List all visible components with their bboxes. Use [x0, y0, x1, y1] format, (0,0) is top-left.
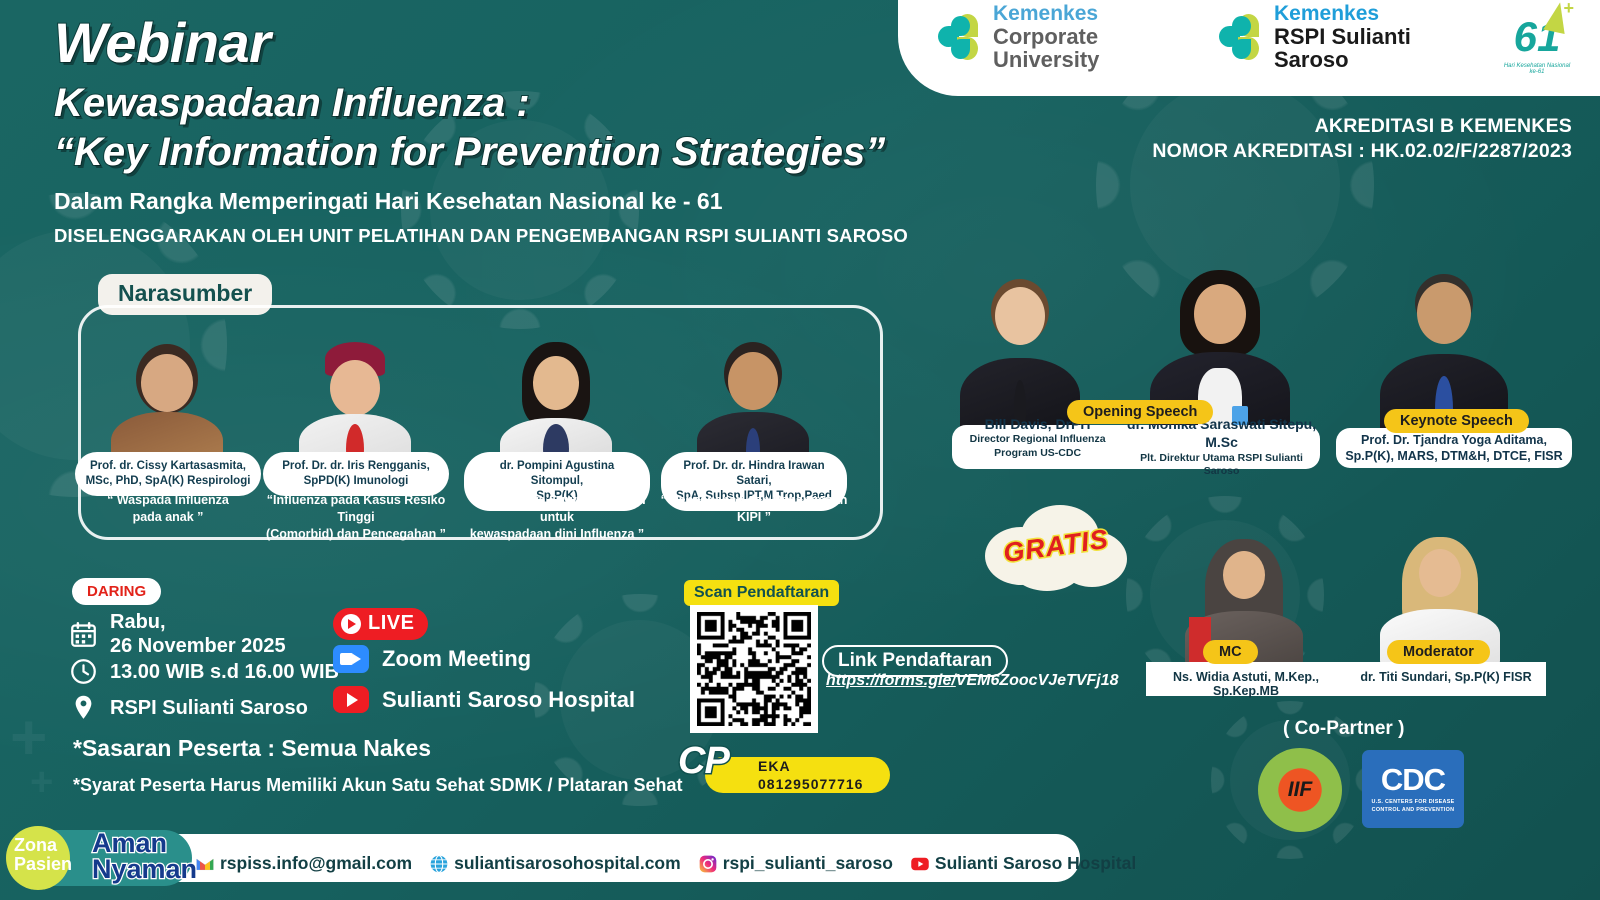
event-time-row: 13.00 WIB s.d 16.00 WIB	[70, 658, 339, 685]
event-date-row: Rabu, 26 November 2025	[70, 610, 286, 658]
event-place-row: RSPI Sulianti Saroso	[70, 694, 308, 721]
contact-instagram[interactable]: rspi_sulianti_saroso	[698, 853, 893, 874]
location-pin-icon	[70, 694, 97, 721]
title-block: Webinar Kewaspadaan Influenza : “Key Inf…	[54, 14, 1014, 247]
qr-canvas	[697, 612, 811, 726]
hkn-caption: Hari Kesehatan Nasional ke-61	[1500, 63, 1574, 75]
iif-text: IIF	[1258, 748, 1342, 832]
contact-person-label: CP	[678, 740, 729, 783]
platform-zoom-label: Zoom Meeting	[382, 646, 531, 672]
contact-website-text: suliantisarosohospital.com	[454, 853, 681, 874]
zona-aman-pasien-nyaman-logo: Zona Pasien Aman Nyaman	[0, 824, 200, 892]
hkn-61-logo: + 61 Hari Kesehatan Nasional ke-61	[1500, 0, 1574, 76]
zoom-icon	[333, 645, 369, 673]
mc-name: Ns. Widia Astuti, M.Kep., Sp.Kep.MB	[1146, 670, 1346, 698]
event-time: 13.00 WIB s.d 16.00 WIB	[110, 660, 339, 684]
opening-speaker-role: Plt. Direktur Utama RSPI Sulianti Saroso	[1123, 452, 1320, 479]
accreditation-line-1: AKREDITASI B KEMENKES	[1152, 114, 1572, 139]
contact-person-phone: 081295077716	[758, 776, 863, 794]
webinar-word: Webinar	[54, 14, 1014, 73]
contact-website[interactable]: suliantisarosohospital.com	[429, 853, 681, 874]
target-participants: *Sasaran Peserta : Semua Nakes	[73, 735, 431, 762]
contact-youtube-text: Sulianti Saroso Hospital	[935, 853, 1136, 874]
speaker-topic: “Influenza pada Kasus Resiko Tinggi (Com…	[256, 492, 456, 542]
page-title-line-1: Kewaspadaan Influenza :	[54, 79, 1014, 128]
contact-email[interactable]: rspiss.info@gmail.com	[195, 853, 412, 874]
event-date-line-2: 26 November 2025	[110, 634, 286, 658]
registration-qr-code[interactable]	[690, 605, 818, 733]
youtube-icon	[910, 854, 930, 874]
platform-youtube-row: Sulianti Saroso Hospital	[333, 686, 635, 713]
globe-icon	[429, 854, 449, 874]
plus-icon: +	[1563, 0, 1574, 19]
accreditation-block: AKREDITASI B KEMENKES NOMOR AKREDITASI :…	[1152, 114, 1572, 164]
footer-contacts: rspiss.info@gmail.com suliantisarosohosp…	[195, 853, 1136, 874]
registration-link-suffix: VEM6ZoocVJeTVFj18	[956, 672, 1119, 689]
cdc-text: CDC	[1381, 764, 1445, 795]
gratis-badge: GRATIS	[985, 505, 1125, 593]
mode-badge: DARING	[72, 578, 161, 605]
accreditation-line-2: NOMOR AKREDITASI : HK.02.02/F/2287/2023	[1152, 139, 1572, 164]
gmail-icon	[195, 854, 215, 874]
opening-speech-card: Bill Davis, DrPH Director Regional Influ…	[952, 425, 1320, 469]
opening-speaker-role: Director Regional Influenza Program US-C…	[952, 433, 1123, 460]
play-icon	[341, 614, 361, 634]
clock-icon	[70, 658, 97, 685]
youtube-icon	[333, 686, 369, 713]
speaker-topic: “ Pentingnya Surveilans SARI untuk kewas…	[457, 492, 657, 542]
moderator-badge: Moderator	[1387, 640, 1490, 664]
event-place: RSPI Sulianti Saroso	[110, 696, 308, 720]
registration-link-url[interactable]: https://forms.gle/VEM6ZoocVJeTVFj18	[826, 672, 1119, 690]
zona-line-4: Nyaman	[92, 856, 197, 882]
instagram-icon	[698, 854, 718, 874]
live-label: LIVE	[368, 612, 414, 635]
contact-person-name: EKA	[758, 758, 863, 776]
poster-canvas: + + Kemenkes Corporate University Kemenk…	[0, 0, 1600, 900]
platform-youtube-label: Sulianti Saroso Hospital	[382, 687, 635, 713]
zona-line-3: Aman	[92, 830, 197, 856]
cdc-caption-line-2: CONTROL AND PREVENTION	[1372, 807, 1455, 815]
keynote-speaker-name: Prof. Dr. Tjandra Yoga Aditama, Sp.P(K),…	[1345, 432, 1562, 465]
zona-line-2: Pasien	[14, 855, 72, 874]
contact-person-details: EKA 081295077716	[758, 758, 863, 793]
cdc-caption-line-1: U.S. CENTERS FOR DISEASE	[1372, 799, 1455, 807]
virus-decoration-icon	[1130, 80, 1340, 290]
speaker-name-chip: Prof. Dr. dr. Iris Rengganis, SpPD(K) Im…	[263, 452, 449, 496]
iif-logo: IIF	[1258, 748, 1342, 832]
plus-decoration-icon: +	[30, 760, 53, 805]
platform-zoom-row: Zoom Meeting	[333, 645, 531, 673]
cdc-logo: CDC U.S. CENTERS FOR DISEASE CONTROL AND…	[1362, 750, 1464, 828]
calendar-icon	[70, 621, 97, 648]
mc-badge: MC	[1203, 640, 1258, 664]
contact-instagram-text: rspi_sulianti_saroso	[723, 853, 893, 874]
kemenkes-rspi-line2: RSPI Sulianti Saroso	[1274, 25, 1486, 71]
opening-speech-badge: Opening Speech	[1067, 400, 1213, 424]
speaker-topic: “ Waspada Influenza pada anak ”	[68, 492, 268, 526]
kemenkes-cu-line1: Kemenkes	[993, 3, 1205, 25]
live-badge: LIVE	[333, 608, 428, 640]
participant-requirement: *Syarat Peserta Harus Memiliki Akun Satu…	[73, 775, 683, 796]
kemenkes-rspi-logo: Kemenkes RSPI Sulianti Saroso	[1219, 3, 1486, 71]
contact-youtube[interactable]: Sulianti Saroso Hospital	[910, 853, 1136, 874]
page-title-line-2: “Key Information for Prevention Strategi…	[54, 128, 1014, 177]
keynote-speech-card: Prof. Dr. Tjandra Yoga Aditama, Sp.P(K),…	[1336, 428, 1572, 468]
keynote-speech-badge: Keynote Speech	[1384, 409, 1529, 433]
moderator-name: dr. Titi Sundari, Sp.P(K) FISR	[1346, 670, 1546, 684]
subtitle-occasion: Dalam Rangka Memperingati Hari Kesehatan…	[54, 188, 1014, 215]
registration-link-prefix: https://forms.gle/	[826, 672, 956, 689]
kemenkes-rspi-line1: Kemenkes	[1274, 3, 1486, 25]
zona-line-1: Zona	[14, 836, 72, 855]
scan-registration-label: Scan Pendaftaran	[684, 580, 839, 606]
event-date-line-1: Rabu,	[110, 610, 286, 634]
contact-email-text: rspiss.info@gmail.com	[220, 853, 412, 874]
speaker-topic: “ Pencegahan dan Penanganan KIPI ”	[654, 492, 854, 526]
kemenkes-cu-line2: Corporate University	[993, 25, 1205, 71]
subtitle-organizer: DISELENGGARAKAN OLEH UNIT PELATIHAN DAN …	[54, 225, 1014, 247]
kemenkes-mark-icon	[1219, 14, 1265, 60]
copartner-label: ( Co-Partner )	[1283, 718, 1404, 740]
speaker-name-chip: Prof. dr. Cissy Kartasasmita, MSc, PhD, …	[75, 452, 261, 496]
